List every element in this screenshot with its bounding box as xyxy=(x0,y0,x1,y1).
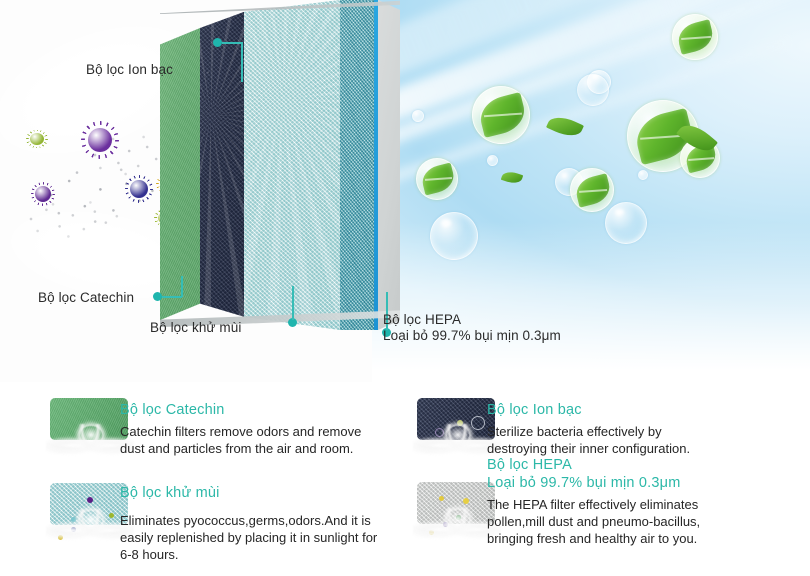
legend-section: Bộ lọc Catechin Catechin filters remove … xyxy=(0,382,810,576)
legend-title: Bộ lọc Catechin xyxy=(120,402,225,418)
air-swoosh-icon xyxy=(372,0,810,165)
callout-label: Bộ lọc HEPA Loại bỏ 99.7% bụi mịn 0.3μm xyxy=(383,312,561,344)
legend-body: Sterilize bacteria effectively by destro… xyxy=(487,423,787,457)
leaf-icon xyxy=(419,163,456,196)
virus-icon xyxy=(130,180,148,198)
leaf-icon xyxy=(501,169,523,186)
leaf-bubble-icon xyxy=(680,138,720,178)
callout-leader-line xyxy=(222,42,242,44)
leaf-icon xyxy=(573,173,612,207)
virus-icon xyxy=(35,186,51,202)
callout-ion-silver: Bộ lọc Ion bạc xyxy=(86,32,276,92)
particle-icon xyxy=(463,498,469,504)
leaf-icon xyxy=(683,143,718,174)
leaf-icon xyxy=(675,19,716,55)
air-swoosh-icon xyxy=(372,0,719,103)
legend-title: Bộ lọc khử mùi xyxy=(120,485,220,501)
legend-subtitle: Loại bỏ 99.7% bụi mịn 0.3μm xyxy=(487,475,681,491)
legend-body: Eliminates pyococcus,germs,odors.And it … xyxy=(120,512,405,563)
callout-leader-line xyxy=(292,286,294,320)
virus-icon xyxy=(88,128,112,152)
leaf-icon xyxy=(632,107,697,164)
legend-item-catechin[interactable]: Bộ lọc Catechin Catechin filters remove … xyxy=(0,382,405,472)
callout-leader-line xyxy=(241,42,243,82)
callout-label-line1: Bộ lọc HEPA xyxy=(383,312,561,328)
bubble-icon xyxy=(412,110,424,122)
bubble-icon xyxy=(487,155,498,166)
callout-label-line2: Loại bỏ 99.7% bụi mịn 0.3μm xyxy=(383,328,561,344)
leaf-icon xyxy=(676,118,718,158)
legend-item-ion-silver[interactable]: Bộ lọc Ion bạc Sterilize bacteria effect… xyxy=(405,382,810,462)
callout-deodorizing: Bộ lọc khử mùi xyxy=(150,280,360,340)
legend-column-left: Bộ lọc Catechin Catechin filters remove … xyxy=(0,382,405,576)
bubble-icon xyxy=(587,70,611,94)
legend-column-right: Bộ lọc Ion bạc Sterilize bacteria effect… xyxy=(405,382,810,576)
bubble-icon xyxy=(605,202,647,244)
legend-item-hepa[interactable]: Bộ lọc HEPA Loại bỏ 99.7% bụi mịn 0.3μm … xyxy=(405,460,810,576)
air-swoosh-icon xyxy=(372,0,810,140)
leaf-bubble-icon xyxy=(627,100,699,172)
callout-hepa: Bộ lọc HEPA Loại bỏ 99.7% bụi mịn 0.3μm xyxy=(350,270,600,350)
bacteria-icon xyxy=(30,133,44,145)
callout-label: Bộ lọc Ion bạc xyxy=(86,62,173,77)
legend-title: Bộ lọc Ion bạc xyxy=(487,402,582,418)
infographic-page: Bộ lọc Ion bạc Bộ lọc Catechin Bộ lọc kh… xyxy=(0,0,810,576)
bubble-icon xyxy=(480,108,495,123)
bubble-icon xyxy=(577,74,609,106)
particle-icon xyxy=(439,496,444,501)
bubble-icon xyxy=(638,170,648,180)
leaf-bubble-icon xyxy=(472,86,530,144)
legend-body: The HEPA filter effectively eliminates p… xyxy=(487,496,797,547)
callout-label: Bộ lọc khử mùi xyxy=(150,320,241,335)
leaf-icon xyxy=(546,112,584,141)
leaf-bubble-icon xyxy=(672,14,718,60)
leaf-bubble-icon xyxy=(570,168,614,212)
leaf-bubble-icon xyxy=(416,158,458,200)
hero-illustration: Bộ lọc Ion bạc Bộ lọc Catechin Bộ lọc kh… xyxy=(0,0,810,382)
particle-icon xyxy=(87,497,93,503)
air-swoosh-icon xyxy=(372,36,790,195)
bubble-icon xyxy=(555,168,583,196)
legend-title: Bộ lọc HEPA xyxy=(487,457,572,473)
callout-label: Bộ lọc Catechin xyxy=(38,290,134,305)
bubble-icon xyxy=(430,212,478,260)
leaf-icon xyxy=(476,92,528,138)
legend-item-deodorizing[interactable]: Bộ lọc khử mùi Eliminates pyococcus,germ… xyxy=(0,467,405,576)
legend-body: Catechin filters remove odors and remove… xyxy=(120,423,400,457)
callout-dot-icon xyxy=(213,38,222,47)
